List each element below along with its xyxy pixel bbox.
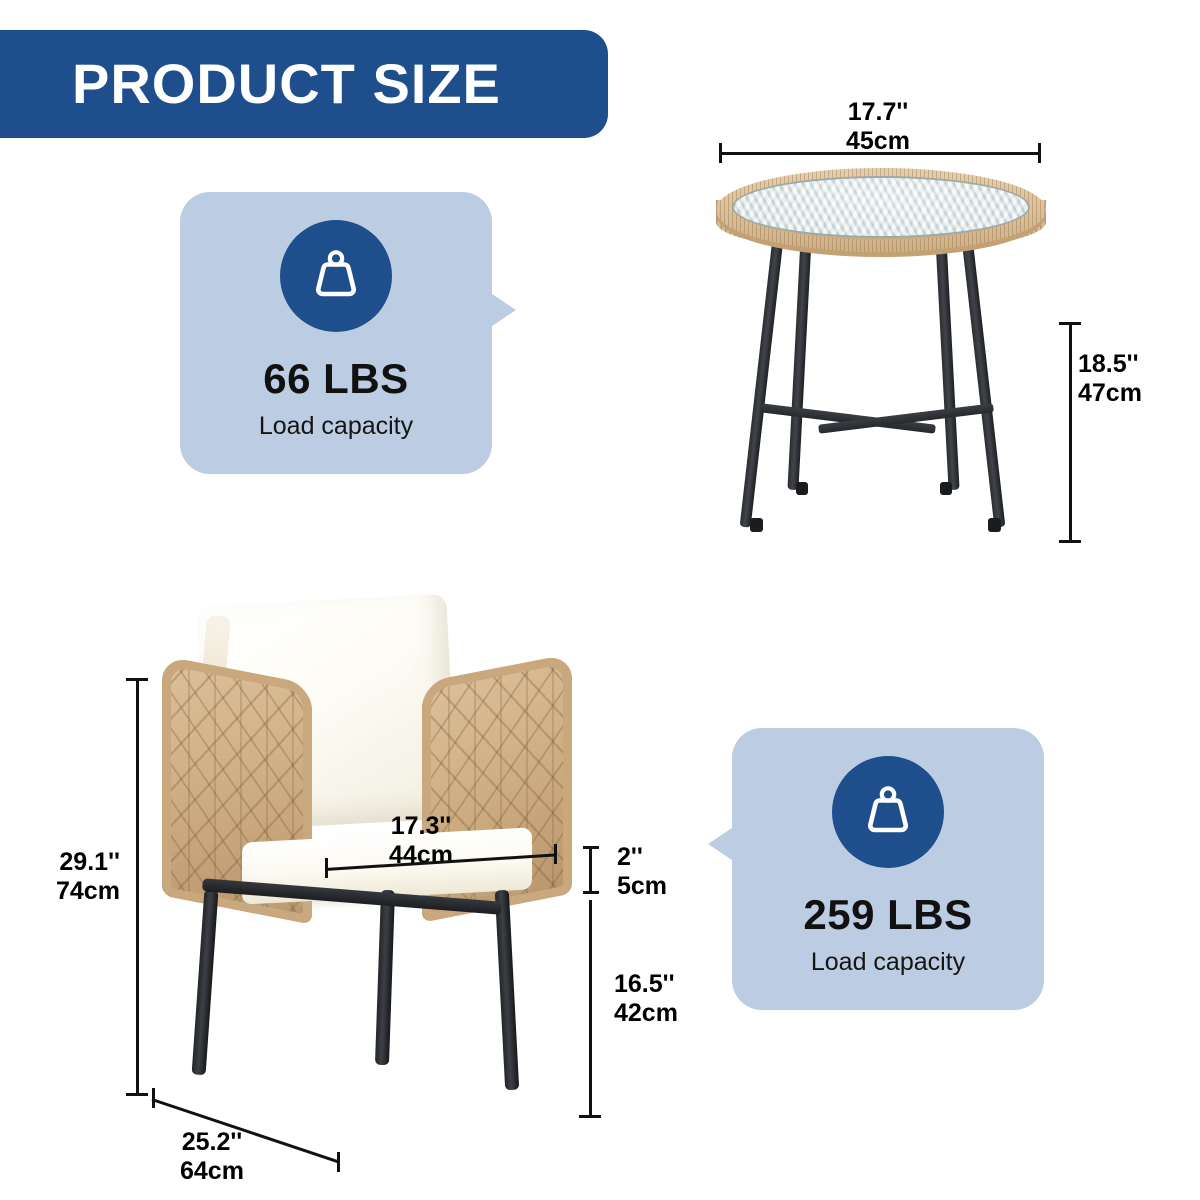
table-foot [988, 518, 1001, 532]
badge-chair-load-capacity: 259 LBS Load capacity [732, 728, 1044, 1010]
page-title: PRODUCT SIZE [72, 56, 501, 112]
badge-value: 66 LBS [263, 358, 408, 400]
chair-leg [375, 890, 395, 1065]
dimension-line-chair-height [136, 678, 139, 1096]
dimension-line-table-height [1069, 322, 1072, 543]
dimension-cap [583, 846, 599, 849]
weight-icon [305, 245, 367, 307]
dimension-cap [126, 678, 148, 681]
dimension-line-chair-cushion [589, 846, 592, 894]
dimension-cap [719, 143, 722, 163]
dimension-line-chair-seat-height [589, 900, 592, 1118]
badge-caption: Load capacity [259, 414, 413, 439]
dimension-cap [579, 1115, 601, 1118]
side-table-illustration [700, 160, 1060, 560]
armchair-illustration [150, 590, 600, 1130]
table-leg [740, 238, 784, 527]
dimension-label-chair-depth: 25.2'' 64cm [180, 1128, 244, 1186]
badge-caption: Load capacity [811, 950, 965, 975]
dimension-cap [1059, 540, 1081, 543]
infographic-canvas: PRODUCT SIZE 66 LBS Load capacity 259 LB… [0, 0, 1200, 1200]
badge-icon-circle [832, 756, 944, 868]
table-leg [935, 238, 959, 490]
badge-tail-left [708, 828, 732, 860]
dimension-cap [126, 1093, 148, 1096]
dimension-label-chair-seat-height: 16.5'' 42cm [614, 970, 678, 1028]
dimension-label-table-height: 18.5'' 47cm [1078, 350, 1142, 408]
dimension-label-chair-cushion-thickness: 2'' 5cm [617, 843, 667, 901]
dimension-label-table-width: 17.7'' 45cm [846, 98, 910, 156]
dimension-line-table-width [719, 152, 1041, 155]
table-foot [796, 482, 808, 495]
table-leg [787, 238, 811, 490]
badge-icon-circle [280, 220, 392, 332]
dimension-cap [325, 858, 328, 878]
badge-table-load-capacity: 66 LBS Load capacity [180, 192, 492, 474]
dimension-label-chair-height: 29.1'' 74cm [56, 848, 120, 906]
table-leg [962, 238, 1006, 527]
weight-icon [857, 781, 919, 843]
dimension-cap [1038, 143, 1041, 163]
badge-value: 259 LBS [803, 894, 972, 936]
dimension-cap [152, 1088, 155, 1108]
dimension-cap [1059, 322, 1081, 325]
chair-leg [495, 890, 519, 1090]
chair-leg [192, 890, 219, 1076]
dimension-cap [583, 891, 599, 894]
product-size-banner: PRODUCT SIZE [0, 30, 608, 138]
table-foot [940, 482, 952, 495]
badge-tail-right [492, 294, 516, 326]
table-foot [750, 518, 763, 532]
dimension-cap [554, 844, 557, 864]
dimension-cap [337, 1152, 340, 1172]
table-glass-top [732, 176, 1030, 238]
